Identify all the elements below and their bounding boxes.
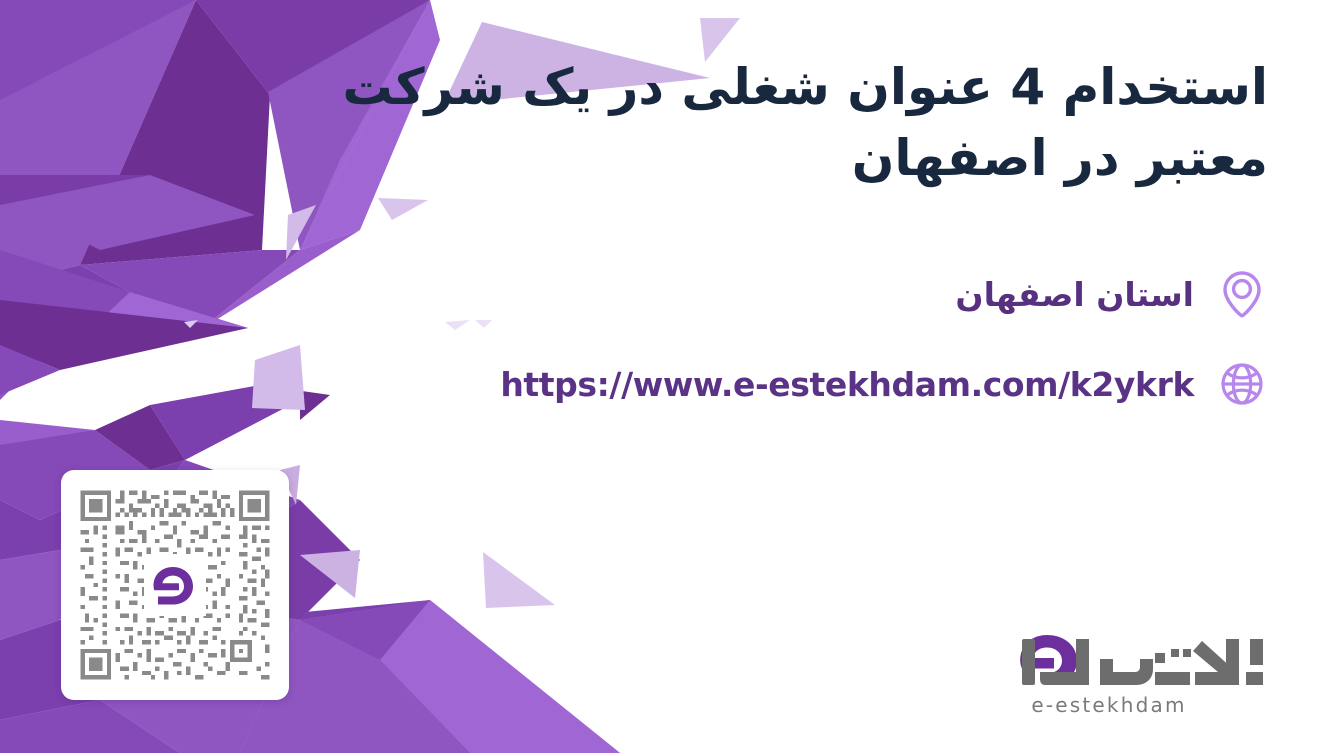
map-pin-icon bbox=[1216, 268, 1268, 320]
location-row: استان اصفهان bbox=[268, 268, 1268, 320]
job-banner: استخدام 4 عنوان شغلی در یک شرکت معتبر در… bbox=[0, 0, 1340, 753]
brand-subtitle: e-estekhdam bbox=[950, 693, 1268, 717]
banner-info-list: استان اصفهان https://www.e-estekhdam.com… bbox=[268, 268, 1268, 448]
banner-title-block: استخدام 4 عنوان شغلی در یک شرکت معتبر در… bbox=[338, 52, 1268, 194]
brand-wordmark-icon bbox=[950, 629, 1268, 691]
qr-code-card[interactable] bbox=[61, 470, 289, 700]
brand-logo: e-estekhdam bbox=[950, 629, 1268, 717]
qr-code-image[interactable] bbox=[76, 486, 274, 684]
website-url-text[interactable]: https://www.e-estekhdam.com/k2ykrk bbox=[500, 365, 1194, 404]
location-text: استان اصفهان bbox=[955, 275, 1194, 314]
e-estekhdam-e-icon bbox=[144, 554, 206, 616]
page-title: استخدام 4 عنوان شغلی در یک شرکت معتبر در… bbox=[338, 52, 1268, 194]
globe-icon bbox=[1216, 358, 1268, 410]
website-row[interactable]: https://www.e-estekhdam.com/k2ykrk bbox=[268, 358, 1268, 410]
